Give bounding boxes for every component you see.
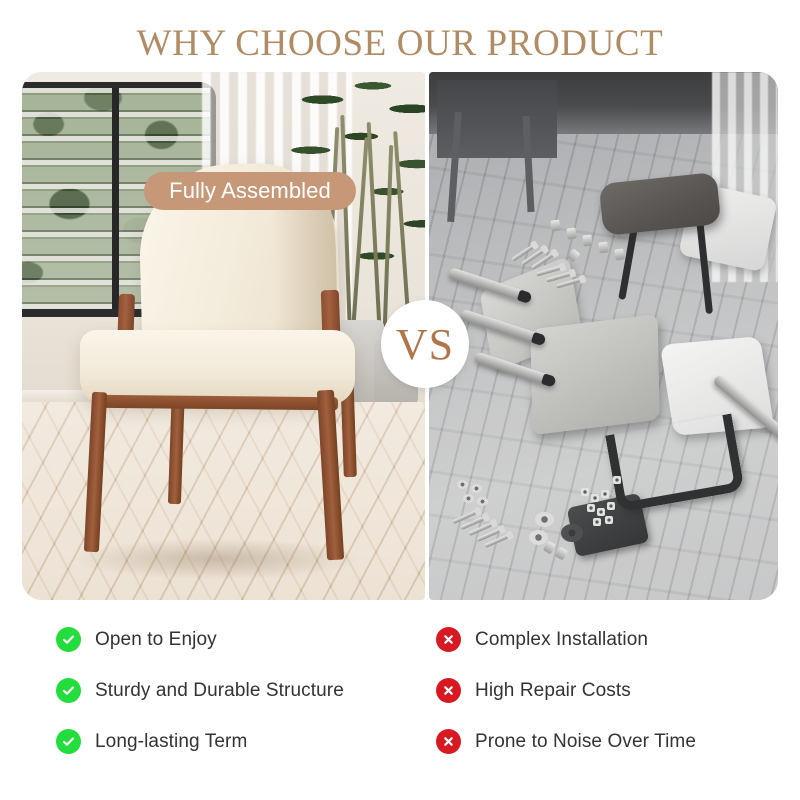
vs-divider-badge: VS — [381, 300, 469, 388]
con-label: High Repair Costs — [475, 680, 631, 702]
part-bolt — [598, 241, 608, 253]
x-circle-icon — [436, 627, 461, 652]
part-washer — [471, 484, 482, 493]
x-circle-icon — [436, 729, 461, 754]
page-title: WHY CHOOSE OUR PRODUCT — [0, 22, 800, 65]
assembled-product-photo: Fully Assembled — [22, 72, 425, 600]
part-nut — [607, 502, 615, 510]
cons-column: Complex Installation High Repair Costs P… — [0, 614, 436, 767]
assembled-badge: Fully Assembled — [144, 172, 356, 210]
chair-seat-cushion — [80, 330, 355, 405]
part-washer — [477, 497, 488, 506]
ready-to-assemble-photo: Ready-to-Assemble — [429, 72, 778, 600]
part-nut — [601, 490, 609, 498]
product-comparison-infographic: WHY CHOOSE OUR PRODUCT — [0, 0, 800, 800]
part-nut — [591, 494, 599, 502]
part-bolt — [566, 227, 576, 239]
right-photo-scene — [429, 72, 778, 600]
part-nut — [581, 488, 589, 496]
x-circle-icon — [436, 678, 461, 703]
part-nut — [613, 476, 621, 484]
chair-seat-rail — [92, 395, 338, 411]
part-nut — [605, 516, 613, 524]
part-nut — [587, 504, 595, 512]
feature-comparison-lists: Open to Enjoy Sturdy and Durable Structu… — [0, 614, 800, 789]
part-washer — [529, 530, 548, 545]
window-mullion — [112, 88, 119, 309]
con-label: Prone to Noise Over Time — [475, 731, 696, 753]
left-photo-scene — [22, 72, 425, 600]
part-washer — [463, 494, 474, 503]
part-rubber-washer — [561, 524, 583, 542]
part-bolt — [582, 234, 592, 246]
part-bolt — [550, 219, 560, 231]
chair-shadow — [72, 538, 362, 580]
con-label: Complex Installation — [475, 629, 648, 651]
part-nut — [593, 518, 601, 526]
part-washer — [457, 480, 468, 489]
part-nut — [597, 508, 605, 516]
part-washer — [535, 512, 554, 527]
part-bolt — [614, 248, 624, 260]
